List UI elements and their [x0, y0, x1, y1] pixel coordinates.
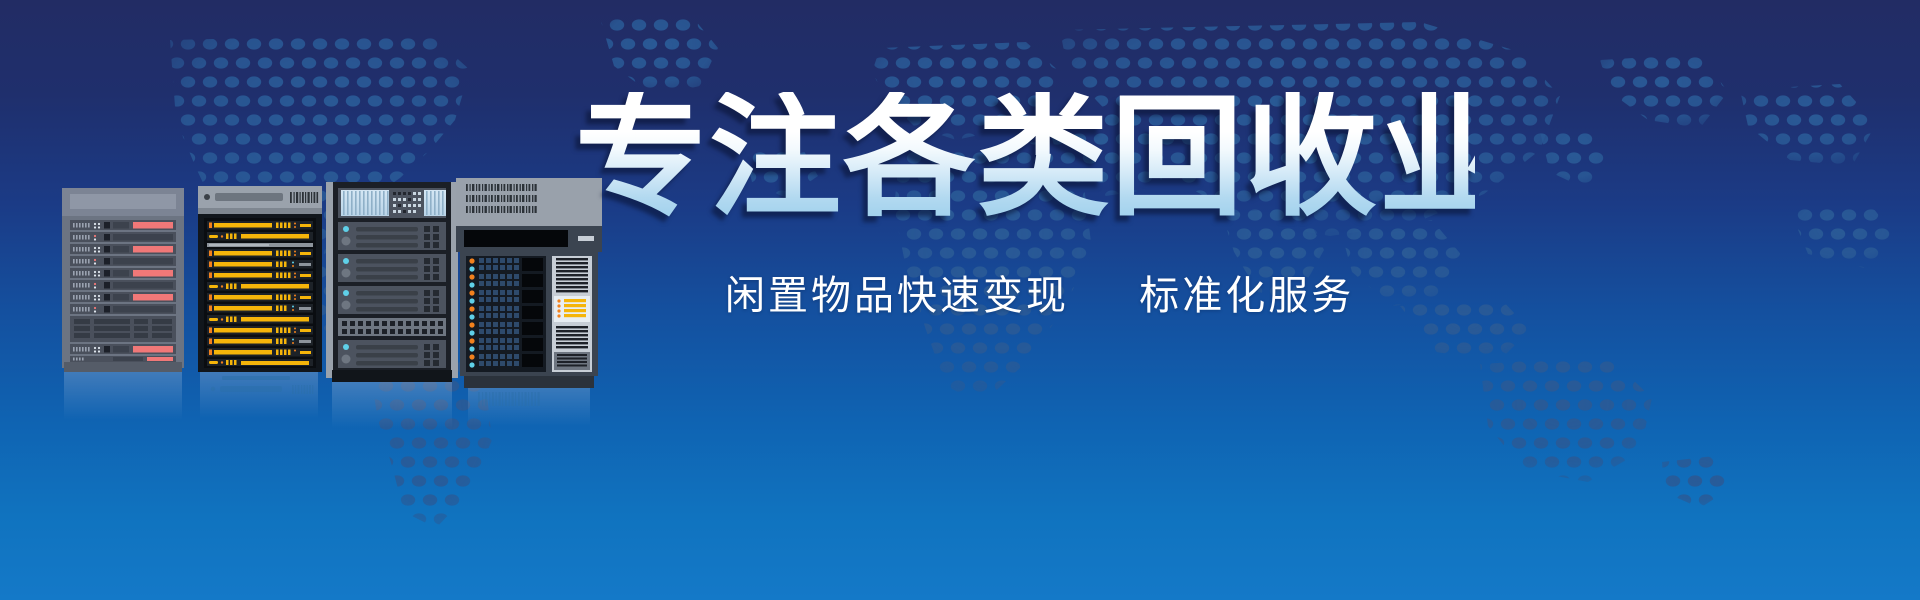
rack-3 — [326, 182, 458, 428]
subtitle-phrase-1: 闲置物品快速变现 — [725, 274, 1069, 318]
hero-banner: 专注各类回收业务 闲置物品快速变现 标准化服务 — [0, 0, 1920, 600]
banner-text-block: 专注各类回收业务 闲置物品快速变现 标准化服务 — [575, 92, 1475, 320]
banner-subtitle: 闲置物品快速变现 标准化服务 — [725, 272, 1475, 320]
subtitle-phrase-2: 标准化服务 — [1139, 274, 1354, 318]
rack-1 — [62, 188, 184, 420]
server-racks-illustration — [0, 0, 620, 600]
rack-2 — [198, 186, 322, 418]
page-title: 专注各类回收业务 — [575, 92, 1475, 224]
